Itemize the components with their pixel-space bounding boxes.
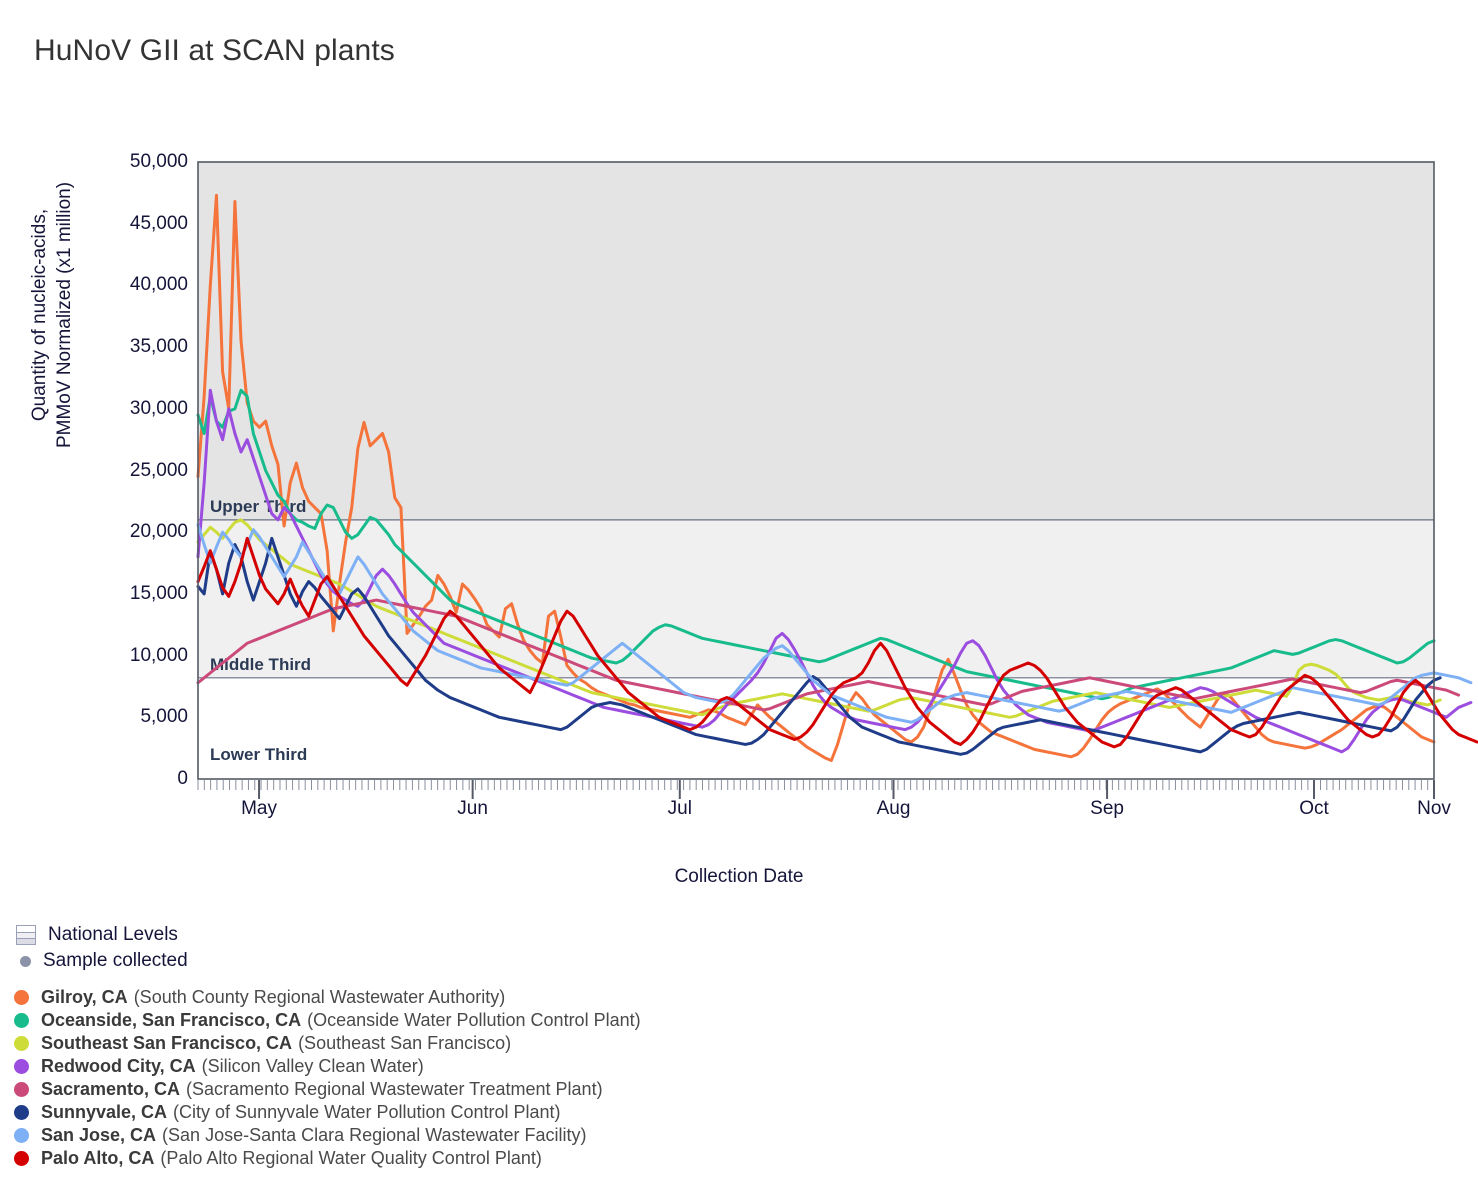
- chart-legend: National Levels Sample collected Gilroy,…: [12, 922, 1452, 1170]
- national-level-band: [198, 162, 1434, 520]
- legend-series-description: (Sacramento Regional Wastewater Treatmen…: [186, 1079, 603, 1100]
- national-level-band: [198, 520, 1434, 678]
- x-axis-tick-label: May: [241, 798, 277, 820]
- legend-series-item[interactable]: Oceanside, San Francisco, CA(Oceanside W…: [12, 1009, 1452, 1032]
- legend-series-color-dot-icon: [14, 1059, 29, 1074]
- legend-series-color-dot-icon: [14, 1013, 29, 1028]
- legend-series-description: (City of Sunnyvale Water Pollution Contr…: [173, 1102, 561, 1123]
- national-levels-label: National Levels: [48, 924, 178, 946]
- x-axis-tick-label: Sep: [1090, 798, 1124, 820]
- legend-series-color-dot-icon: [14, 1036, 29, 1051]
- legend-series-name: Redwood City, CA: [41, 1056, 196, 1077]
- chart-container: Quantity of nucleic-acids, PMMoV Normali…: [0, 0, 1478, 920]
- legend-series-description: (South County Regional Wastewater Author…: [134, 987, 506, 1008]
- legend-series-item[interactable]: San Jose, CA(San Jose-Santa Clara Region…: [12, 1124, 1452, 1147]
- x-axis-tick-label: Jul: [668, 798, 692, 820]
- legend-series-name: Southeast San Francisco, CA: [41, 1033, 292, 1054]
- legend-series-color-dot-icon: [14, 1128, 29, 1143]
- legend-series-name: Sunnyvale, CA: [41, 1102, 167, 1123]
- legend-series-color-dot-icon: [14, 1082, 29, 1097]
- legend-series-list: Gilroy, CA(South County Regional Wastewa…: [12, 986, 1452, 1170]
- legend-series-name: Sacramento, CA: [41, 1079, 180, 1100]
- band-label: Upper Third: [210, 497, 306, 516]
- x-axis-tick-label: Jun: [457, 798, 488, 820]
- legend-series-description: (Palo Alto Regional Water Quality Contro…: [160, 1148, 542, 1169]
- legend-series-item[interactable]: Sacramento, CA(Sacramento Regional Waste…: [12, 1078, 1452, 1101]
- sample-collected-label: Sample collected: [43, 950, 188, 972]
- legend-series-description: (Southeast San Francisco): [298, 1033, 511, 1054]
- x-axis-tick-label: Nov: [1417, 798, 1451, 820]
- legend-series-name: Oceanside, San Francisco, CA: [41, 1010, 301, 1031]
- legend-series-description: (Silicon Valley Clean Water): [202, 1056, 424, 1077]
- legend-series-name: San Jose, CA: [41, 1125, 156, 1146]
- sample-collected-dot-icon: [20, 956, 31, 967]
- legend-series-item[interactable]: Redwood City, CA(Silicon Valley Clean Wa…: [12, 1055, 1452, 1078]
- legend-series-item[interactable]: Southeast San Francisco, CA(Southeast Sa…: [12, 1032, 1452, 1055]
- x-axis-label: Collection Date: [0, 866, 1478, 888]
- legend-series-item[interactable]: Gilroy, CA(South County Regional Wastewa…: [12, 986, 1452, 1009]
- legend-series-description: (Oceanside Water Pollution Control Plant…: [307, 1010, 640, 1031]
- legend-series-name: Palo Alto, CA: [41, 1148, 154, 1169]
- x-axis-tick-label: Aug: [877, 798, 911, 820]
- band-label: Middle Third: [210, 655, 311, 674]
- band-label: Lower Third: [210, 745, 307, 764]
- legend-series-item[interactable]: Sunnyvale, CA(City of Sunnyvale Water Po…: [12, 1101, 1452, 1124]
- legend-series-name: Gilroy, CA: [41, 987, 128, 1008]
- legend-national-levels: National Levels: [12, 922, 1452, 948]
- x-axis-tick-label: Oct: [1299, 798, 1329, 820]
- legend-series-color-dot-icon: [14, 990, 29, 1005]
- legend-sample-collected: Sample collected: [12, 948, 1452, 974]
- legend-series-color-dot-icon: [14, 1151, 29, 1166]
- legend-series-item[interactable]: Palo Alto, CA(Palo Alto Regional Water Q…: [12, 1147, 1452, 1170]
- line-chart-plot: Upper ThirdMiddle ThirdLower Third: [0, 0, 1478, 920]
- national-levels-icon: [16, 925, 36, 945]
- legend-series-color-dot-icon: [14, 1105, 29, 1120]
- legend-series-description: (San Jose-Santa Clara Regional Wastewate…: [162, 1125, 587, 1146]
